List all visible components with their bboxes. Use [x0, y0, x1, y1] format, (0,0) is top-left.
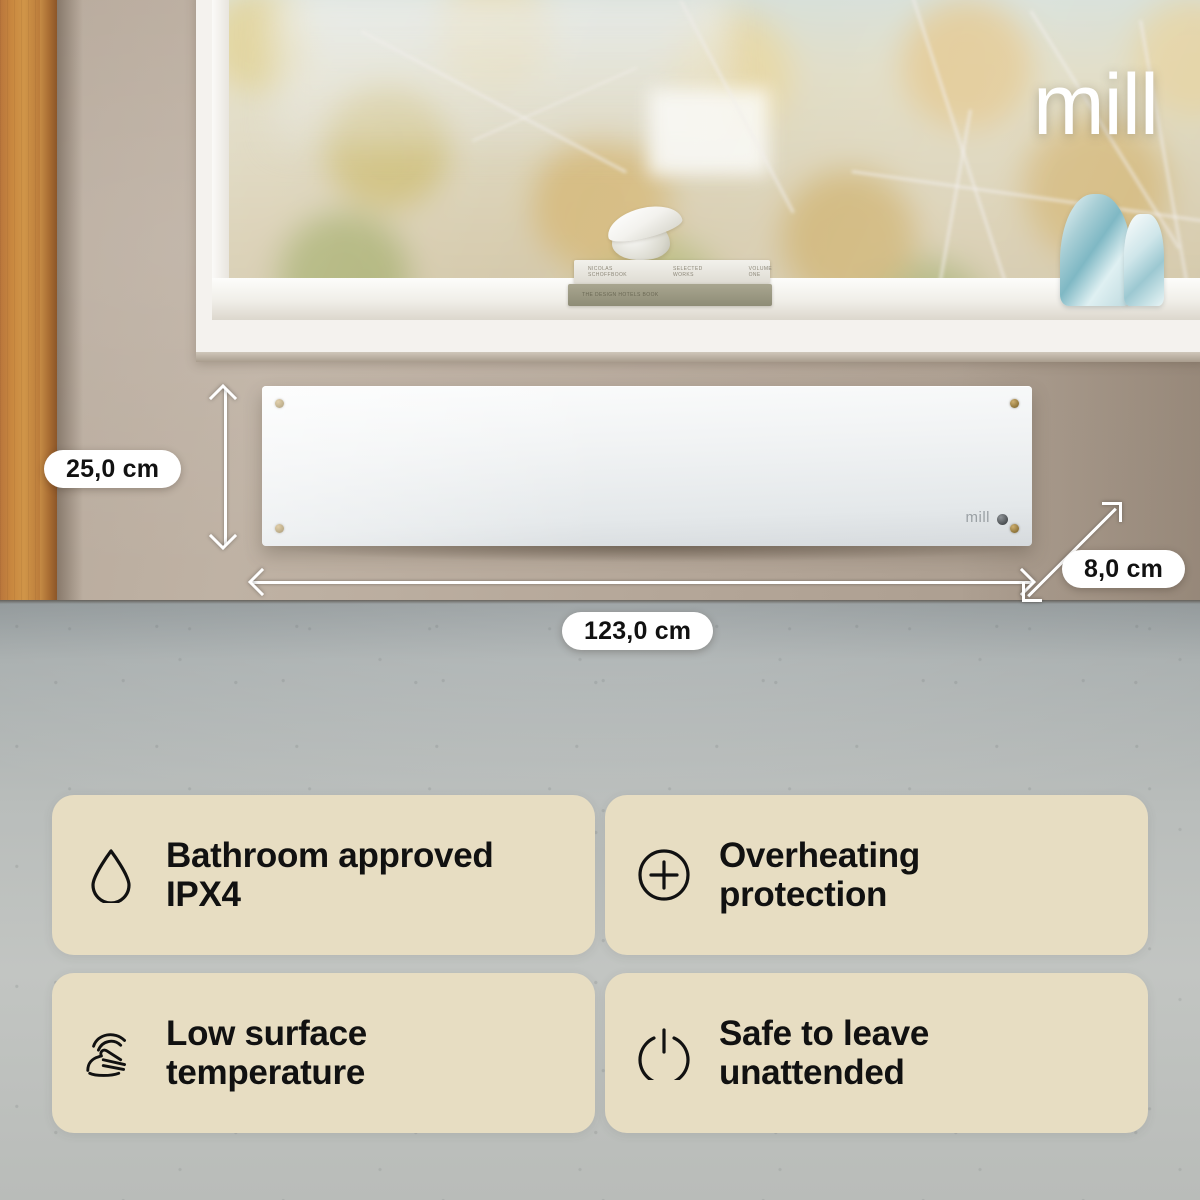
arrowhead-downleft-icon — [1022, 582, 1042, 602]
feature-line-1: Overheating — [719, 836, 920, 875]
feature-label: Bathroom approved IPX4 — [166, 836, 493, 914]
arrowhead-up-icon — [208, 384, 236, 412]
screw-icon — [275, 524, 284, 533]
book-spine-text: THE DESIGN HOTELS BOOK — [582, 292, 659, 298]
feature-label: Safe to leave unattended — [719, 1014, 929, 1092]
feature-line-2: temperature — [166, 1053, 367, 1092]
hand-heat-icon — [82, 1024, 140, 1082]
width-dimension-label: 123,0 cm — [562, 612, 713, 650]
feature-card-safe-unattended[interactable]: Safe to leave unattended — [605, 973, 1148, 1133]
product-marketing-image: NICOLAS SCHOFFBOOK SELECTED WORKS VOLUME… — [0, 0, 1200, 1200]
book-spine-text: NICOLAS SCHOFFBOOK — [588, 266, 627, 278]
screw-icon — [1010, 399, 1019, 408]
water-droplet-icon — [82, 846, 140, 904]
depth-dimension-label: 8,0 cm — [1062, 550, 1185, 588]
height-dimension-arrow — [213, 388, 237, 546]
arrowhead-upright-icon — [1102, 502, 1122, 522]
book-lower: THE DESIGN HOTELS BOOK — [568, 284, 772, 306]
feature-line-1: Safe to leave — [719, 1014, 929, 1053]
circle-plus-icon — [635, 846, 693, 904]
feature-card-overheating-protection[interactable]: Overheating protection — [605, 795, 1148, 955]
feature-line-1: Bathroom approved — [166, 836, 493, 875]
screw-icon — [1010, 524, 1019, 533]
window-frame: NICOLAS SCHOFFBOOK SELECTED WORKS VOLUME… — [196, 0, 1200, 362]
wood-edge — [40, 0, 57, 600]
sill-front-edge — [196, 352, 1200, 362]
height-dimension-label: 25,0 cm — [44, 450, 181, 488]
book-stack: NICOLAS SCHOFFBOOK SELECTED WORKS VOLUME… — [574, 260, 772, 306]
feature-line-2: protection — [719, 875, 920, 914]
window-mullion — [212, 0, 229, 320]
power-icon — [635, 1024, 693, 1082]
dimension-line — [252, 581, 1032, 584]
book-spine-text: SELECTED WORKS — [673, 266, 703, 278]
ceramic-vessel — [606, 198, 682, 260]
panel-heater: mill — [262, 386, 1032, 546]
feature-line-2: IPX4 — [166, 875, 493, 914]
wood-door-panel — [0, 0, 40, 600]
feature-card-grid: Bathroom approved IPX4 Overheating prote… — [52, 795, 1148, 1133]
arrowhead-down-icon — [208, 522, 236, 550]
wall-floor-junction — [0, 600, 1200, 604]
screw-icon — [275, 399, 284, 408]
arrowhead-left-icon — [248, 567, 276, 595]
book-upper: NICOLAS SCHOFFBOOK SELECTED WORKS VOLUME… — [574, 260, 770, 284]
wood-cast-shadow — [57, 0, 83, 604]
status-indicator-dot — [997, 514, 1008, 525]
sculpture-arch — [1060, 194, 1132, 306]
feature-label: Low surface temperature — [166, 1014, 367, 1092]
book-spine-text: VOLUME ONE — [749, 266, 773, 278]
feature-line-1: Low surface — [166, 1014, 367, 1053]
feature-card-low-surface-temperature[interactable]: Low surface temperature — [52, 973, 595, 1133]
blue-ceramic-sculpture — [1060, 190, 1164, 306]
sculpture-leg — [1124, 214, 1164, 306]
mill-brand-logo: mill — [1033, 62, 1158, 148]
width-dimension-arrow — [252, 570, 1032, 594]
feature-label: Overheating protection — [719, 836, 920, 914]
feature-card-bathroom-approved[interactable]: Bathroom approved IPX4 — [52, 795, 595, 955]
feature-line-2: unattended — [719, 1053, 929, 1092]
window-glass: NICOLAS SCHOFFBOOK SELECTED WORKS VOLUME… — [212, 0, 1200, 320]
heater-drop-shadow — [268, 546, 1030, 562]
heater-brand-logo: mill — [966, 509, 991, 526]
